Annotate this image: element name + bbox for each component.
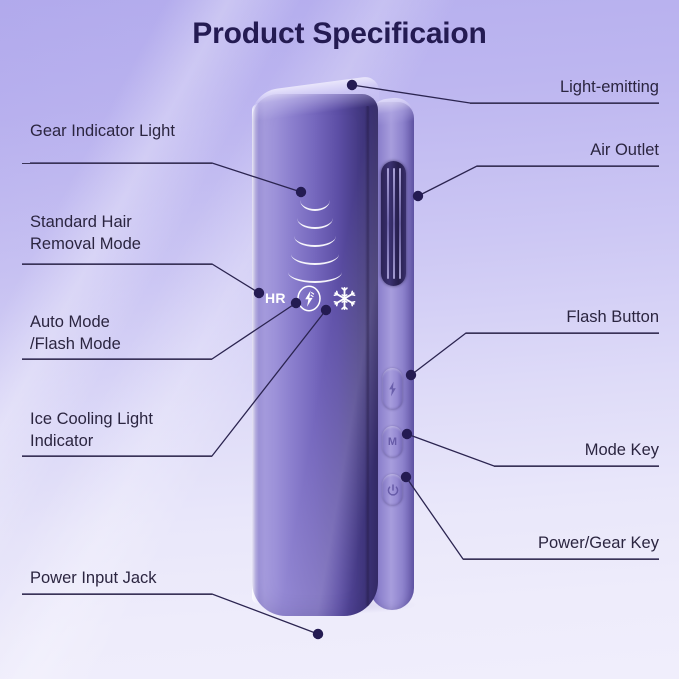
callout-rule-ice-cooling-light-indicator [22, 456, 212, 457]
bolt-icon [388, 381, 397, 397]
callout-label-gear-indicator-light: Gear Indicator Light [30, 120, 175, 142]
callout-rule-light-emitting [470, 103, 659, 104]
air-outlet-vent [381, 161, 406, 286]
product-specification-diagram: Product Specificaion HR [0, 0, 679, 679]
callout-rule-standard-hair-removal-mode [22, 264, 212, 265]
flash-button[interactable] [382, 368, 403, 410]
power-icon [387, 484, 399, 497]
callout-label-power-input-jack: Power Input Jack [30, 567, 157, 589]
flash-mode-icon [296, 285, 322, 312]
snowflake-icon [331, 285, 358, 312]
page-title: Product Specificaion [0, 17, 679, 51]
mode-indicator-row: HR [260, 284, 372, 314]
callout-rule-mode-key [494, 466, 659, 467]
callout-label-power-gear-key: Power/Gear Key [359, 532, 659, 554]
callout-rule-power-gear-key [463, 559, 659, 560]
gear-indicator-light [280, 198, 350, 288]
callout-rule-power-input-jack [22, 594, 212, 595]
hr-mode-label: HR [265, 290, 286, 306]
callout-rule-air-outlet [477, 166, 659, 167]
callout-rule-flash-button [466, 333, 659, 334]
callout-label-ice-cooling-light-indicator: Ice Cooling Light Indicator [30, 408, 153, 452]
callout-rule-gear-indicator-light [22, 163, 212, 164]
callout-rule-auto-mode-flash-mode [22, 359, 212, 360]
dot-power-input-jack [313, 629, 323, 639]
callout-label-mode-key: Mode Key [359, 439, 659, 461]
device-edge-highlight [252, 104, 259, 604]
device-body-seam [365, 106, 370, 606]
callout-label-auto-mode-flash-mode: Auto Mode /Flash Mode [30, 311, 121, 355]
callout-label-flash-button: Flash Button [359, 306, 659, 328]
callout-label-standard-hair-removal-mode: Standard Hair Removal Mode [30, 211, 141, 255]
callout-label-air-outlet: Air Outlet [359, 139, 659, 161]
callout-label-light-emitting: Light-emitting [359, 76, 659, 98]
power-gear-key-button[interactable] [382, 474, 403, 506]
